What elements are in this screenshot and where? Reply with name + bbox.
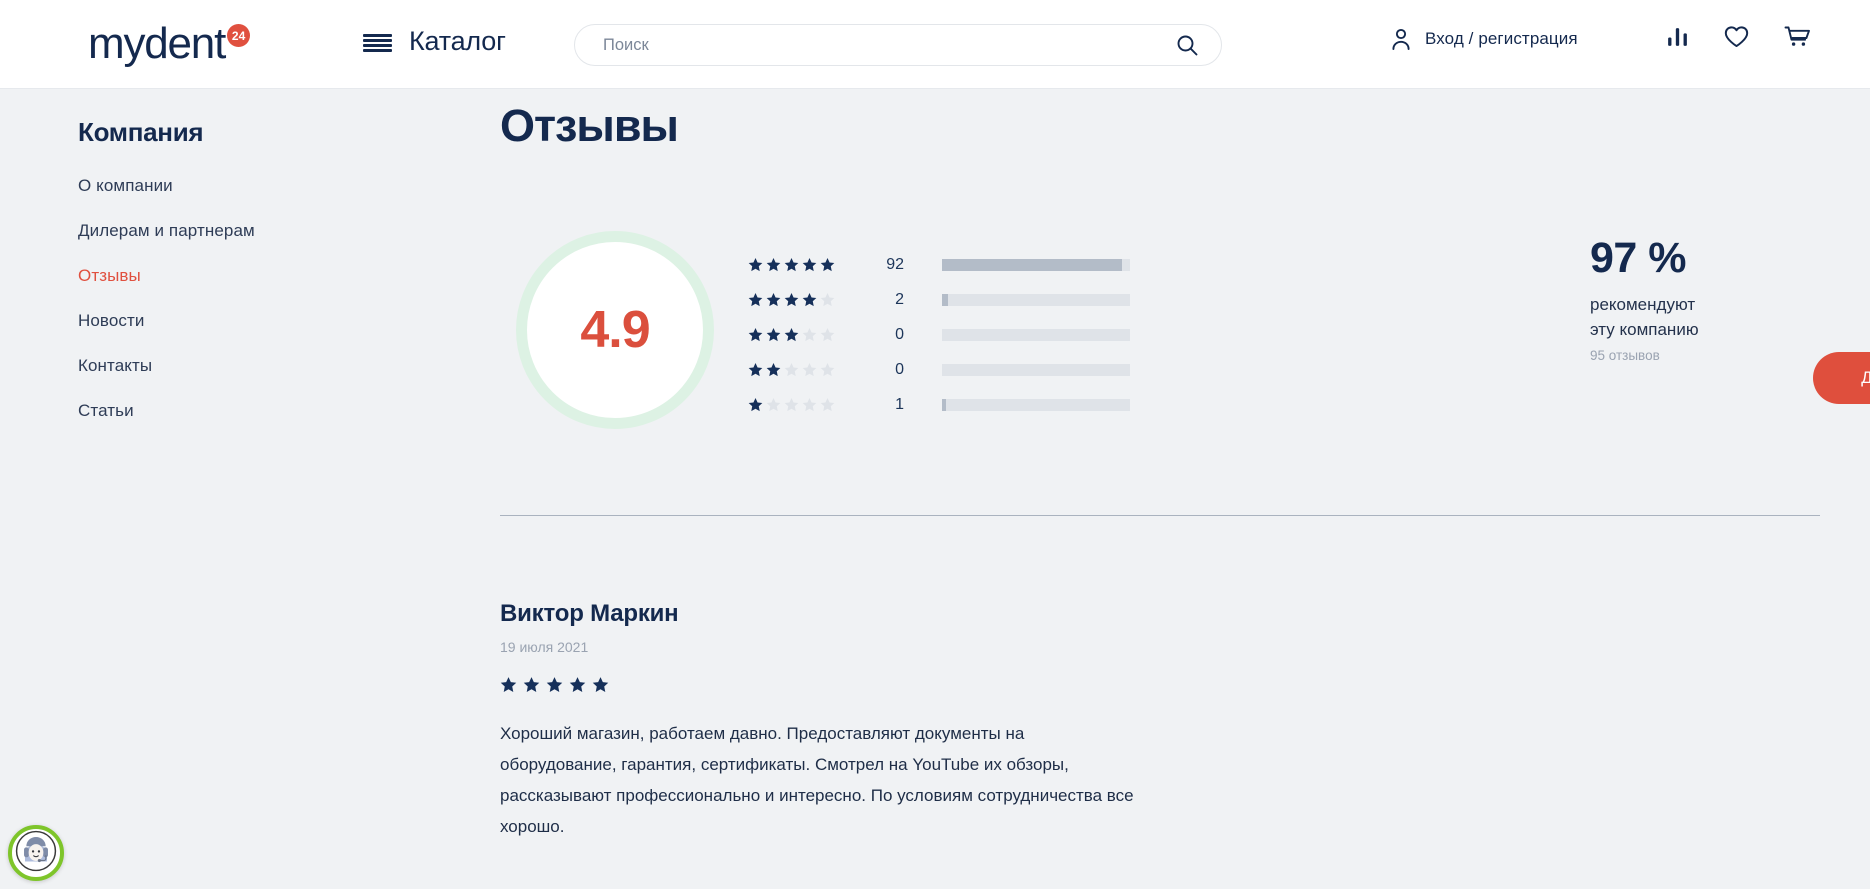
average-rating-circle: 4.9 <box>516 231 714 429</box>
star-filled-icon <box>766 362 781 377</box>
login-register-link[interactable]: Вход / регистрация <box>1390 27 1578 51</box>
rating-bar-2 <box>942 364 1130 376</box>
reviews-summary: 4.9 92 <box>500 217 1820 487</box>
site-header: mydent 24 Каталог Вход / регистрация <box>0 0 1870 89</box>
page-title: Отзывы <box>500 100 1820 152</box>
rating-count-5: 92 <box>860 256 910 274</box>
rating-bar-fill-5 <box>942 259 1122 271</box>
recommend-text-line2: эту компанию <box>1590 317 1810 342</box>
support-operator-icon <box>15 830 57 877</box>
star-filled-icon <box>748 327 763 342</box>
star-empty-icon <box>820 292 835 307</box>
star-filled-icon <box>748 257 763 272</box>
search-input[interactable] <box>601 35 1175 56</box>
review-rating-stars <box>500 676 1820 693</box>
header-icon-group <box>1665 24 1811 54</box>
catalog-button[interactable]: Каталог <box>363 26 506 57</box>
rating-bar-fill-4 <box>942 294 948 306</box>
recommend-block: 97 % рекомендуют эту компанию 95 отзывов <box>1590 234 1810 363</box>
rating-count-2: 0 <box>860 361 910 379</box>
star-filled-icon <box>766 292 781 307</box>
recommend-text: рекомендуют эту компанию <box>1590 292 1810 342</box>
heart-icon[interactable] <box>1723 24 1750 54</box>
sidebar-item-contacts[interactable]: Контакты <box>78 356 378 376</box>
review-author: Виктор Маркин <box>500 600 1820 628</box>
rating-distribution: 92 2 <box>748 247 1148 422</box>
review-date: 19 июля 2021 <box>500 639 1820 655</box>
star-empty-icon <box>802 362 817 377</box>
star-row-2 <box>748 362 860 377</box>
rating-bar-fill-1 <box>942 399 946 411</box>
rating-distribution-row[interactable]: 0 <box>748 317 1148 352</box>
star-empty-icon <box>820 327 835 342</box>
star-filled-icon <box>820 257 835 272</box>
rating-bar-3 <box>942 329 1130 341</box>
star-empty-icon <box>784 397 799 412</box>
star-filled-icon <box>748 292 763 307</box>
logo[interactable]: mydent 24 <box>88 22 250 68</box>
star-filled-icon <box>748 397 763 412</box>
rating-distribution-row[interactable]: 2 <box>748 282 1148 317</box>
star-filled-icon <box>802 257 817 272</box>
star-row-5 <box>748 257 860 272</box>
star-empty-icon <box>820 362 835 377</box>
logo-text: mydent <box>88 22 225 66</box>
star-filled-icon <box>592 676 609 693</box>
catalog-label: Каталог <box>409 26 506 57</box>
login-register-label: Вход / регистрация <box>1425 29 1578 49</box>
main-content: Отзывы 4.9 92 <box>500 100 1820 842</box>
recommend-text-line1: рекомендуют <box>1590 292 1810 317</box>
star-filled-icon <box>766 327 781 342</box>
section-divider <box>500 515 1820 516</box>
add-review-button[interactable]: Добавить отзыв <box>1813 352 1870 404</box>
star-filled-icon <box>766 257 781 272</box>
star-row-4 <box>748 292 860 307</box>
rating-count-4: 2 <box>860 291 910 309</box>
review-text: Хороший магазин, работаем давно. Предост… <box>500 718 1140 842</box>
star-filled-icon <box>802 292 817 307</box>
star-filled-icon <box>500 676 517 693</box>
star-row-1 <box>748 397 860 412</box>
cart-icon[interactable] <box>1783 24 1811 54</box>
search-icon[interactable] <box>1175 33 1199 57</box>
search-bar[interactable] <box>574 24 1222 66</box>
recommend-review-count: 95 отзывов <box>1590 348 1810 363</box>
star-empty-icon <box>802 397 817 412</box>
star-filled-icon <box>784 257 799 272</box>
star-filled-icon <box>784 292 799 307</box>
sidebar-item-articles[interactable]: Статьи <box>78 401 378 421</box>
star-empty-icon <box>820 397 835 412</box>
star-empty-icon <box>784 362 799 377</box>
rating-distribution-row[interactable]: 0 <box>748 352 1148 387</box>
logo-badge-24: 24 <box>227 24 250 47</box>
sidebar-title: Компания <box>78 117 378 148</box>
rating-bar-1 <box>942 399 1130 411</box>
star-filled-icon <box>523 676 540 693</box>
hamburger-menu-icon <box>363 32 392 52</box>
rating-count-1: 1 <box>860 396 910 414</box>
star-filled-icon <box>546 676 563 693</box>
compare-icon[interactable] <box>1665 24 1690 54</box>
sidebar-item-dealers[interactable]: Дилерам и партнерам <box>78 221 378 241</box>
rating-bar-4 <box>942 294 1130 306</box>
star-filled-icon <box>748 362 763 377</box>
rating-bar-5 <box>942 259 1130 271</box>
rating-count-3: 0 <box>860 326 910 344</box>
company-sidebar-nav: Компания О компании Дилерам и партнерам … <box>78 117 378 446</box>
rating-distribution-row[interactable]: 92 <box>748 247 1148 282</box>
sidebar-item-reviews[interactable]: Отзывы <box>78 266 378 286</box>
star-empty-icon <box>802 327 817 342</box>
star-filled-icon <box>569 676 586 693</box>
sidebar-item-about[interactable]: О компании <box>78 176 378 196</box>
star-empty-icon <box>766 397 781 412</box>
star-row-3 <box>748 327 860 342</box>
review-item: Виктор Маркин 19 июля 2021 Хороший магаз… <box>500 600 1820 842</box>
sidebar-item-news[interactable]: Новости <box>78 311 378 331</box>
user-icon <box>1390 27 1412 51</box>
star-filled-icon <box>784 327 799 342</box>
recommend-percent: 97 % <box>1590 234 1810 282</box>
rating-distribution-row[interactable]: 1 <box>748 387 1148 422</box>
support-chat-widget[interactable] <box>8 825 64 881</box>
average-rating-value: 4.9 <box>580 300 649 360</box>
